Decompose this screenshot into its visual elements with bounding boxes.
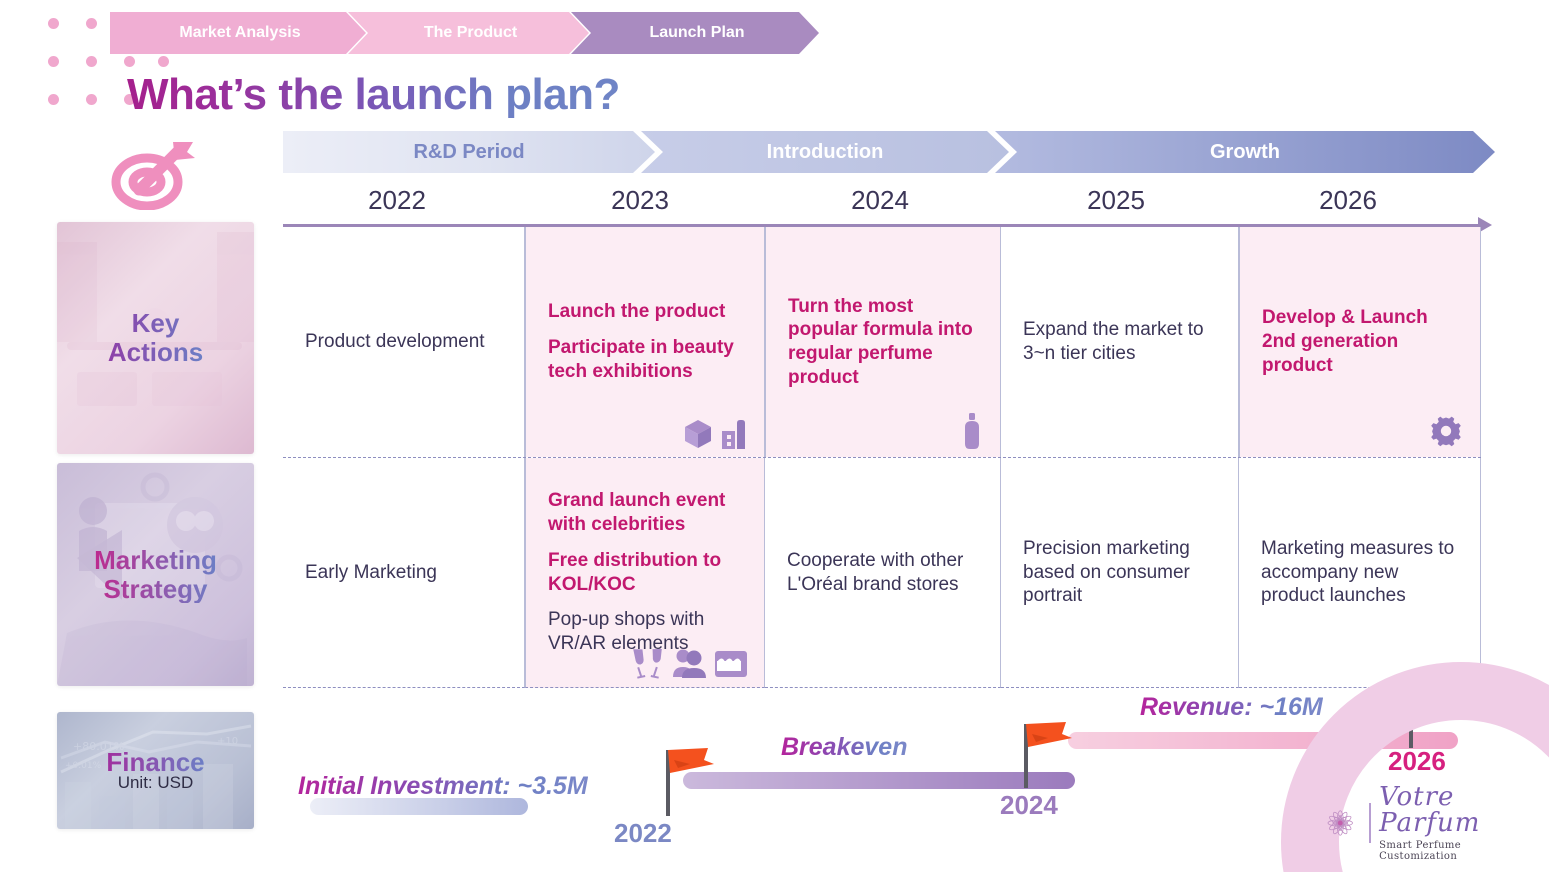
finance-label-initial-investment: Initial Investment: ~3.5M <box>298 772 588 801</box>
slide-root: Market Analysis The Product Launch Plan … <box>0 0 1549 872</box>
rail-label-line1: Marketing <box>94 546 217 575</box>
brand-logo: Votre Parfum Smart Perfume Customization <box>1319 792 1531 854</box>
cell-icons <box>960 413 984 449</box>
cell-text: Participate in beauty tech exhibitions <box>548 336 742 384</box>
cell-marketing-2022: Early Marketing <box>283 458 525 688</box>
cell-icons <box>632 645 748 679</box>
year-axis-labels: 2022 2023 2024 2025 2026 <box>283 185 1483 221</box>
year-label-2025: 2025 <box>1056 185 1176 216</box>
bar-chart-icon <box>720 419 748 449</box>
phase-banner: R&D Period Introduction Growth <box>283 131 1481 173</box>
cell-text: Grand launch event with celebrities <box>548 489 742 537</box>
year-label-2023: 2023 <box>580 185 700 216</box>
cell-text: Turn the most popular formula into regul… <box>788 295 978 390</box>
cell-key-actions-2025: Expand the market to 3~n tier cities <box>1001 227 1239 457</box>
people-icon <box>672 647 706 679</box>
cell-marketing-2024: Cooperate with other L'Oréal brand store… <box>765 458 1001 688</box>
svg-text:+10: +10 <box>217 736 238 747</box>
logo-tagline: Smart Perfume Customization <box>1379 840 1531 862</box>
champagne-toast-icon <box>632 645 664 679</box>
cell-text: Marketing measures to accompany new prod… <box>1261 537 1458 608</box>
cell-text: Precision marketing based on consumer po… <box>1023 537 1216 608</box>
cell-text: Product development <box>305 330 502 354</box>
cell-text: Expand the market to 3~n tier cities <box>1023 318 1216 366</box>
phase-growth: Growth <box>995 131 1495 173</box>
logo-divider <box>1369 803 1371 843</box>
gear-icon <box>1428 413 1464 449</box>
phase-introduction: Introduction <box>641 131 1009 173</box>
rail-label-line2: Strategy <box>94 575 217 604</box>
cell-key-actions-2026: Develop & Launch 2nd generation product <box>1239 227 1481 457</box>
finance-unit-label: Unit: USD <box>118 773 194 793</box>
cell-text: Develop & Launch 2nd generation product <box>1262 306 1458 377</box>
table-row-key-actions: Product development Launch the product P… <box>283 227 1481 457</box>
target-dart-icon <box>105 140 200 210</box>
year-label-2022: 2022 <box>337 185 457 216</box>
cell-icons <box>684 419 748 449</box>
table-row-marketing-strategy: Early Marketing Grand launch event with … <box>283 457 1481 688</box>
breadcrumb: Market Analysis The Product Launch Plan <box>110 12 801 54</box>
finance-label-revenue: Revenue: ~16M <box>1140 693 1323 722</box>
page-title: What’s the launch plan? <box>127 70 620 120</box>
cell-key-actions-2023: Launch the product Participate in beauty… <box>525 227 765 457</box>
cell-marketing-2026: Marketing measures to accompany new prod… <box>1239 458 1481 688</box>
year-label-2026: 2026 <box>1288 185 1408 216</box>
finance-year-2022: 2022 <box>614 818 672 849</box>
phase-rd-period: R&D Period <box>283 131 655 173</box>
flag-icon <box>668 748 714 778</box>
storefront-icon <box>714 649 748 679</box>
cell-text: Cooperate with other L'Oréal brand store… <box>787 549 978 597</box>
cell-text: Early Marketing <box>305 561 502 585</box>
roadmap-grid: Product development Launch the product P… <box>283 227 1481 687</box>
perfume-bottle-icon <box>960 413 984 449</box>
cell-icons <box>1428 413 1464 449</box>
cell-text: Free distribution to KOL/KOC <box>548 549 742 597</box>
svg-text:+0.01%: +0.01% <box>65 761 102 771</box>
flower-mandala-icon <box>1319 797 1361 849</box>
breadcrumb-item-market-analysis[interactable]: Market Analysis <box>110 12 366 54</box>
rail-label-line2: Actions <box>108 338 203 367</box>
rail-tile-finance: +80.01% +0.01% +10 Finance Unit: USD <box>57 712 254 829</box>
box-3d-icon <box>684 419 712 449</box>
cell-text: Launch the product <box>548 300 742 324</box>
cell-marketing-2023: Grand launch event with celebrities Free… <box>525 458 765 688</box>
rail-label-line1: Key <box>108 309 203 338</box>
cell-marketing-2025: Precision marketing based on consumer po… <box>1001 458 1239 688</box>
finance-label-breakeven: Breakeven <box>781 733 907 762</box>
finance-bar-breakeven <box>683 772 1075 789</box>
breadcrumb-item-the-product[interactable]: The Product <box>348 12 589 54</box>
logo-name: Votre Parfum <box>1379 784 1531 836</box>
cell-key-actions-2024: Turn the most popular formula into regul… <box>765 227 1001 457</box>
rail-tile-key-actions: Key Actions <box>57 222 254 454</box>
year-label-2024: 2024 <box>820 185 940 216</box>
flag-icon <box>1026 722 1072 752</box>
cell-key-actions-2022: Product development <box>283 227 525 457</box>
breadcrumb-item-launch-plan[interactable]: Launch Plan <box>571 12 819 54</box>
rail-tile-marketing-strategy: Marketing Strategy <box>57 463 254 686</box>
finance-year-2024: 2024 <box>1000 790 1058 821</box>
